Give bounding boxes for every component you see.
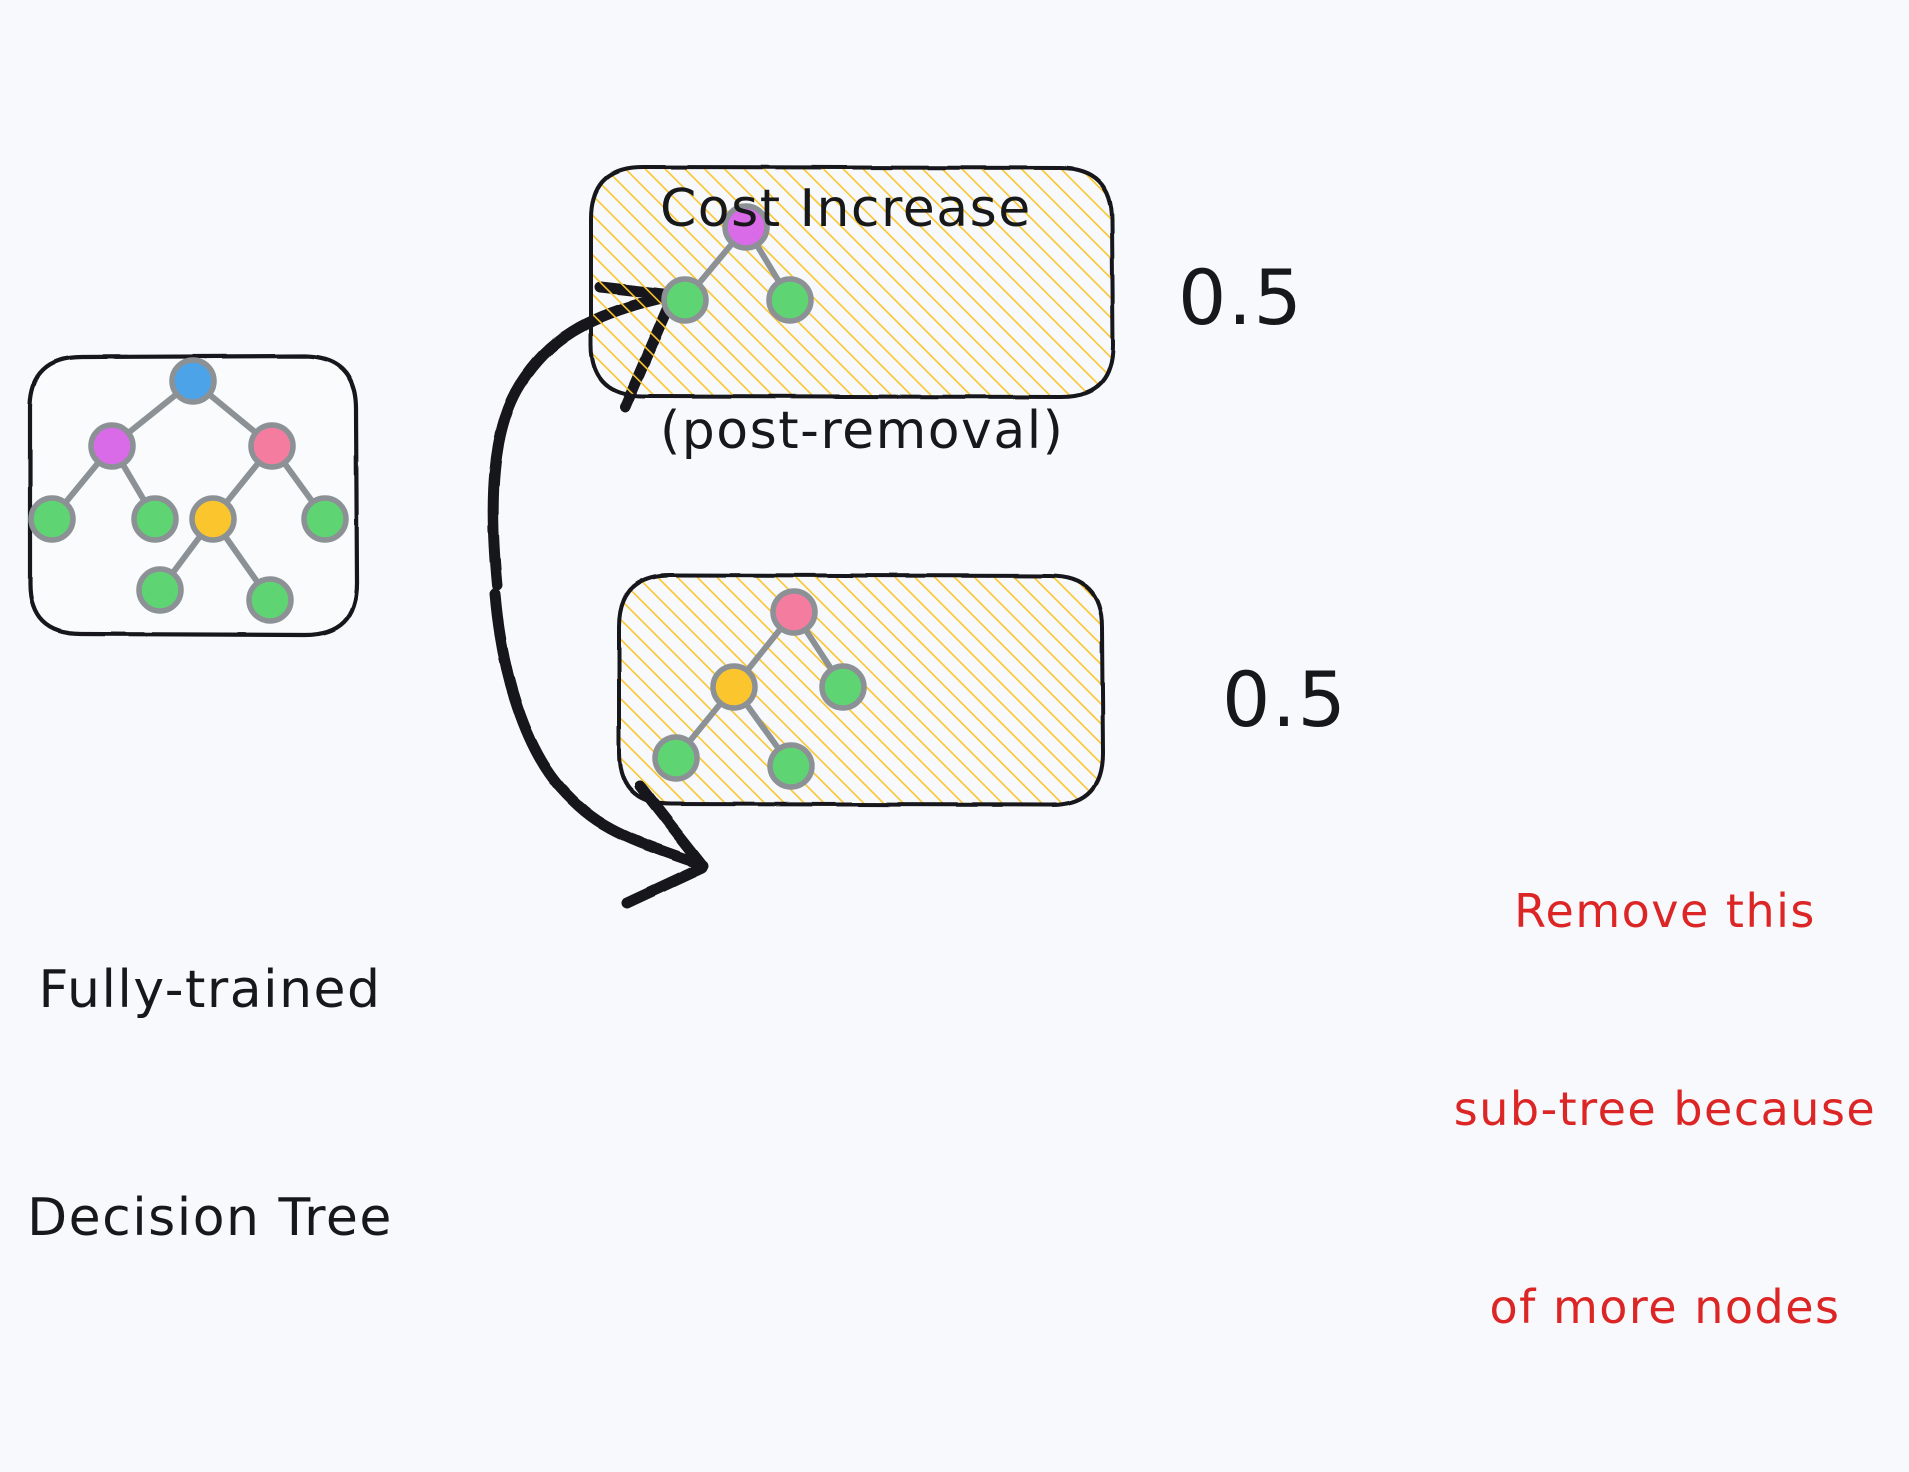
- tree-node-leaf: [31, 498, 73, 540]
- removal-annotation: Remove this sub-tree because of more nod…: [1440, 746, 1890, 1472]
- tree-node-pink: [251, 425, 293, 467]
- source-tree-panel: [30, 356, 357, 635]
- removal-annotation-line3: of more nodes: [1440, 1274, 1890, 1340]
- removal-annotation-line1: Remove this: [1440, 878, 1890, 944]
- cost-increase-value-top: 0.5: [1178, 258, 1303, 338]
- subtree-node-leaf: [655, 737, 697, 779]
- chart-title: Cost Increase (post-removal): [660, 24, 1180, 616]
- tree-node-leaf: [139, 569, 181, 611]
- source-panel-caption: Fully-trained Decision Tree: [10, 800, 410, 1408]
- tree-node-leaf: [249, 579, 291, 621]
- removal-annotation-line2: sub-tree because: [1440, 1076, 1890, 1142]
- tree-node-root: [172, 360, 214, 402]
- chart-title-line1: Cost Increase: [660, 172, 1180, 246]
- tree-node-leaf: [304, 498, 346, 540]
- source-caption-line1: Fully-trained: [10, 952, 410, 1028]
- cost-increase-value-bottom: 0.5: [1222, 660, 1347, 740]
- subtree-node-leaf: [770, 745, 812, 787]
- tree-node-purple: [91, 425, 133, 467]
- chart-title-line2: (post-removal): [660, 394, 1180, 468]
- diagram-canvas: Cost Increase (post-removal) Fully-train…: [0, 0, 1909, 1013]
- tree-node-yellow: [192, 498, 234, 540]
- source-caption-line2: Decision Tree: [10, 1180, 410, 1256]
- subtree-node-leaf: [822, 666, 864, 708]
- subtree-node-yellow: [713, 666, 755, 708]
- tree-node-leaf: [134, 498, 176, 540]
